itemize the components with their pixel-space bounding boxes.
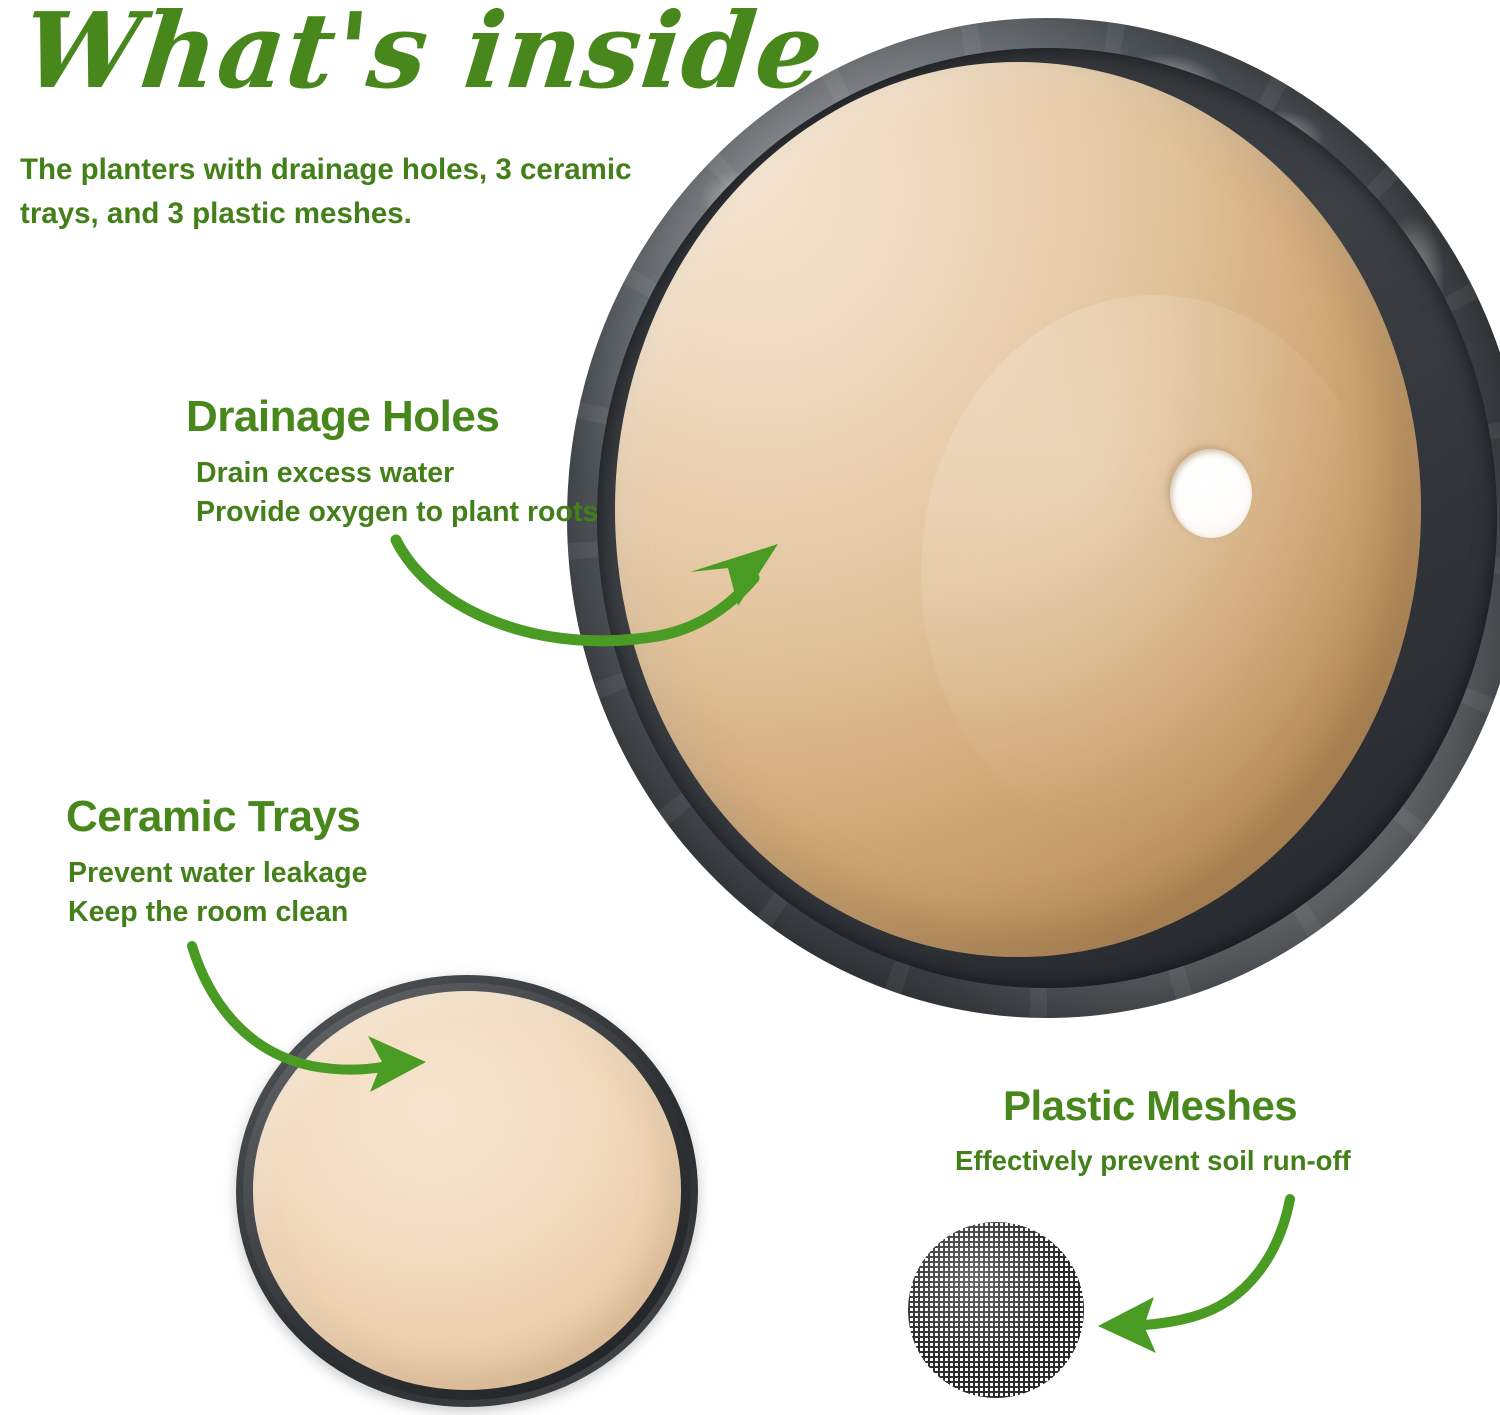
feature-meshes-line-1: Effectively prevent soil run-off (955, 1142, 1351, 1180)
arrow-to-ceramic-tray (186, 940, 446, 1100)
feature-drainage-line-1: Drain excess water (196, 454, 598, 493)
feature-meshes-lines: Effectively prevent soil run-off (955, 1142, 1351, 1180)
drainage-hole (1170, 449, 1252, 539)
feature-drainage-title: Drainage Holes (186, 392, 598, 442)
infographic-canvas: What's inside The planters with drainage… (0, 0, 1500, 1415)
arrow-to-drainage-hole (392, 528, 792, 668)
feature-drainage-line-2: Provide oxygen to plant roots (196, 493, 598, 532)
feature-trays-line-2: Keep the room clean (68, 893, 367, 932)
intro-paragraph: The planters with drainage holes, 3 cera… (20, 148, 660, 235)
mesh-highlight (908, 1222, 1084, 1398)
feature-trays-line-1: Prevent water leakage (68, 854, 367, 893)
feature-plastic-meshes: Plastic Meshes Effectively prevent soil … (1003, 1082, 1351, 1180)
planter-image (567, 18, 1500, 1018)
arrow-to-plastic-mesh (1080, 1195, 1320, 1355)
feature-trays-title: Ceramic Trays (66, 792, 367, 842)
feature-meshes-title: Plastic Meshes (1003, 1082, 1351, 1130)
feature-trays-lines: Prevent water leakage Keep the room clea… (66, 854, 367, 933)
planter-base-ring (921, 295, 1389, 850)
feature-ceramic-trays: Ceramic Trays Prevent water leakage Keep… (66, 792, 367, 933)
plastic-mesh-image (908, 1222, 1084, 1398)
planter-interior (615, 62, 1421, 957)
feature-drainage-holes: Drainage Holes Drain excess water Provid… (186, 392, 598, 533)
feature-drainage-lines: Drain excess water Provide oxygen to pla… (186, 454, 598, 533)
